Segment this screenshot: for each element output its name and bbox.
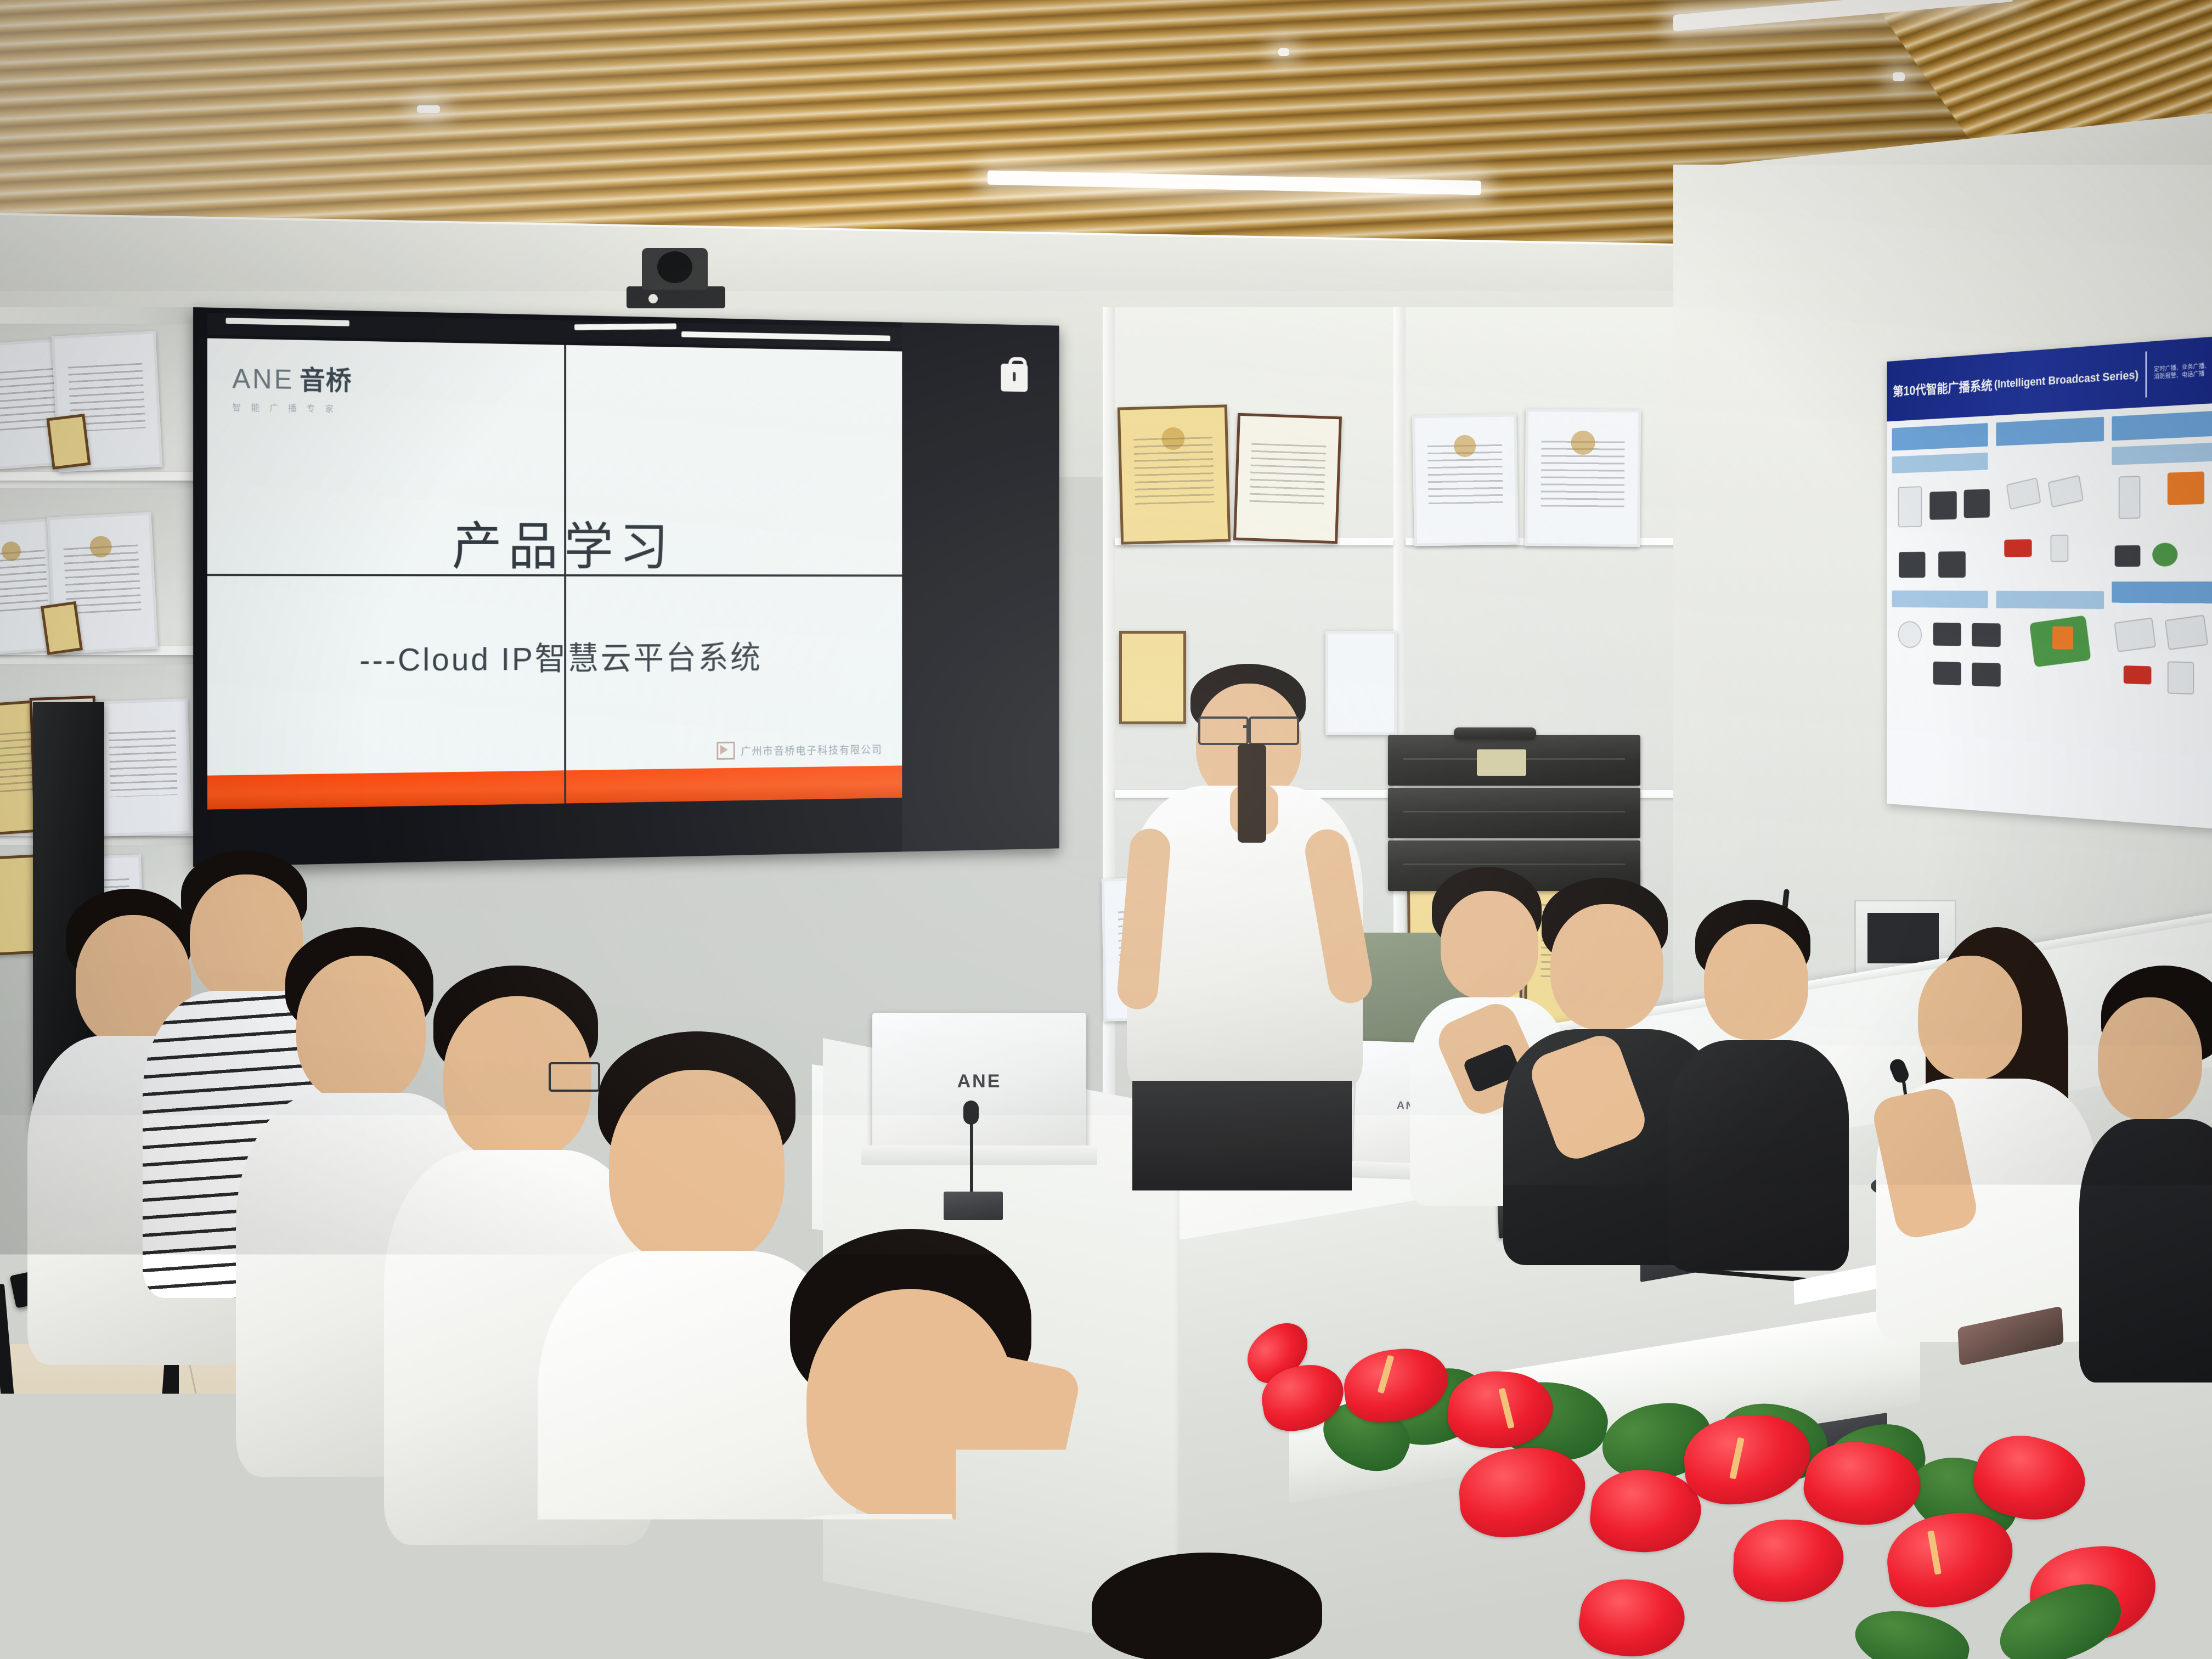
rack-handle — [1454, 727, 1536, 740]
wristwatch-dial — [1007, 1523, 1036, 1550]
poster-device — [1898, 486, 1922, 527]
certificate-frame — [47, 414, 91, 470]
poster-device — [2152, 543, 2177, 567]
lectern-terminal[interactable]: ANE — [872, 1013, 1086, 1150]
ptz-camera-icon — [627, 248, 725, 309]
poster-device — [1933, 662, 1961, 686]
poster-device — [1972, 623, 2000, 647]
poster-device — [1964, 489, 1990, 518]
poster-device — [1899, 552, 1925, 578]
poster-device — [2114, 617, 2156, 652]
poster-section-bar — [1996, 417, 2104, 446]
lectern-terminal-brand: ANE — [957, 1071, 1002, 1092]
certificate-frame — [1233, 413, 1342, 544]
poster-section-bar — [2112, 582, 2212, 603]
poster-device — [2006, 477, 2041, 510]
certificate-frame — [41, 601, 83, 655]
linear-led-4 — [1278, 48, 1289, 56]
audience-member — [1059, 1553, 1366, 1659]
poster-section-bar — [1892, 423, 1988, 451]
video-wall-right-panel[interactable] — [902, 323, 1059, 852]
presenter-glasses — [1249, 716, 1299, 745]
logo-chinese-text: 音桥 — [300, 358, 352, 397]
slide-subtitle: ---Cloud IP智慧云平台系统 — [207, 631, 902, 681]
slide-footer: 广州市音桥电子科技有限公司 — [717, 740, 883, 760]
poster-device — [2119, 476, 2141, 519]
poster-device — [1938, 551, 1966, 578]
gooseneck-mic-stem — [970, 1114, 973, 1196]
presenter-glasses-bridge — [1243, 725, 1251, 728]
meeting-room-photo: ANE 音桥 智 能 广 播 专 家 产品学习 ---Cloud IP智慧云平台… — [0, 0, 2212, 1659]
presenter-trousers — [1132, 1081, 1352, 1190]
poster-device — [1972, 663, 2000, 687]
poster-headline-en: (Intelligent Broadcast Series) — [1993, 368, 2138, 391]
slide-brand-logo: ANE 音桥 智 能 广 播 专 家 — [232, 357, 409, 415]
poster-device — [1929, 491, 1956, 520]
poster-device — [1933, 623, 1961, 646]
handheld-mic-in-hand — [1238, 744, 1266, 843]
poster-subsection-bar — [1996, 591, 2104, 609]
poster-device — [2124, 665, 2152, 685]
poster-device — [2168, 471, 2204, 505]
poster-headline-cn: 第10代智能广播系统 — [1887, 375, 1993, 400]
poster-device — [2004, 539, 2032, 557]
poster-diagram — [2052, 627, 2073, 650]
poster-subsection-bar — [1892, 590, 1988, 608]
poster-section-bar — [2112, 411, 2212, 441]
logo-latin-text: ANE — [232, 363, 294, 395]
presenter — [1108, 664, 1393, 1125]
audience-member — [2079, 966, 2212, 1383]
lock-icon — [1001, 364, 1028, 392]
video-wall[interactable]: ANE 音桥 智 能 广 播 专 家 产品学习 ---Cloud IP智慧云平台… — [193, 307, 1059, 867]
poster-device — [2051, 534, 2069, 562]
poster-subsection-bar — [1892, 453, 1988, 473]
slide-accent-bar — [207, 765, 902, 809]
slide-footer-company: 广州市音桥电子科技有限公司 — [741, 741, 882, 758]
play-triangle-icon — [717, 742, 735, 760]
poster-device — [2168, 661, 2194, 695]
poster-subsection-bar — [2112, 442, 2212, 465]
presenter-glasses — [1198, 716, 1249, 745]
product-poster: 第10代智能广播系统 (Intelligent Broadcast Series… — [1887, 336, 2212, 830]
power-amplifier-rack — [1388, 788, 1640, 838]
audience-member — [1871, 927, 2101, 1344]
rack-display — [1477, 749, 1526, 776]
certificate-frame — [94, 698, 192, 837]
poster-device — [2048, 475, 2084, 508]
gooseneck-mic-base — [944, 1192, 1003, 1220]
audience-member — [1668, 900, 1854, 1273]
audience-member — [724, 1229, 1108, 1659]
poster-device — [2165, 614, 2208, 650]
certificate-frame — [1412, 414, 1519, 546]
linear-led-5 — [1893, 72, 1905, 81]
poster-device — [2115, 545, 2141, 567]
slide-title: 产品学习 — [207, 503, 902, 579]
ceiling-reflection-2 — [574, 324, 676, 330]
certificate-frame — [1525, 409, 1641, 547]
linear-led-3 — [417, 105, 440, 113]
poster-device — [1898, 621, 1922, 648]
lectern-terminal-base — [861, 1145, 1097, 1165]
poster-header-divider — [2146, 352, 2147, 397]
gooseneck-mic-head — [963, 1101, 979, 1125]
poster-side-text: 定时广播、业务广播、 消防报警、电话广播 — [2154, 363, 2210, 381]
logo-tagline: 智 能 广 播 专 家 — [232, 400, 409, 415]
certificate-frame — [1118, 404, 1231, 544]
